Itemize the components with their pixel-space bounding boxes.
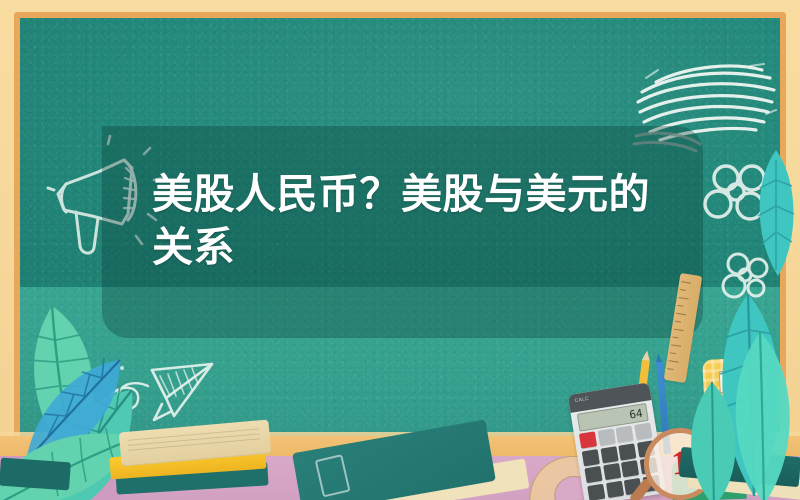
calculator-key[interactable] xyxy=(584,466,602,483)
notebook-label xyxy=(315,454,351,497)
book-item xyxy=(0,458,71,491)
leaf-icon xyxy=(676,380,750,500)
calculator-key[interactable] xyxy=(616,425,634,442)
calculator-key[interactable] xyxy=(587,484,605,500)
calculator-key[interactable] xyxy=(606,481,624,498)
pencil-tip xyxy=(642,350,651,361)
calculator-key[interactable] xyxy=(600,446,618,463)
calculator-key-ac[interactable] xyxy=(579,431,597,448)
page-title: 美股人民币？美股与美元的关系 xyxy=(152,168,672,275)
calculator-key[interactable] xyxy=(603,463,621,480)
calculator-key[interactable] xyxy=(582,449,600,466)
calculator-key[interactable] xyxy=(618,443,636,460)
poster-canvas: 美股人民币？美股与美元的关系 xyxy=(0,0,800,500)
pen-tip xyxy=(655,353,662,362)
leaf-icon xyxy=(748,150,800,285)
calculator-brand: CALC xyxy=(574,396,589,404)
calculator-key[interactable] xyxy=(597,428,615,445)
calculator-key[interactable] xyxy=(621,460,639,477)
